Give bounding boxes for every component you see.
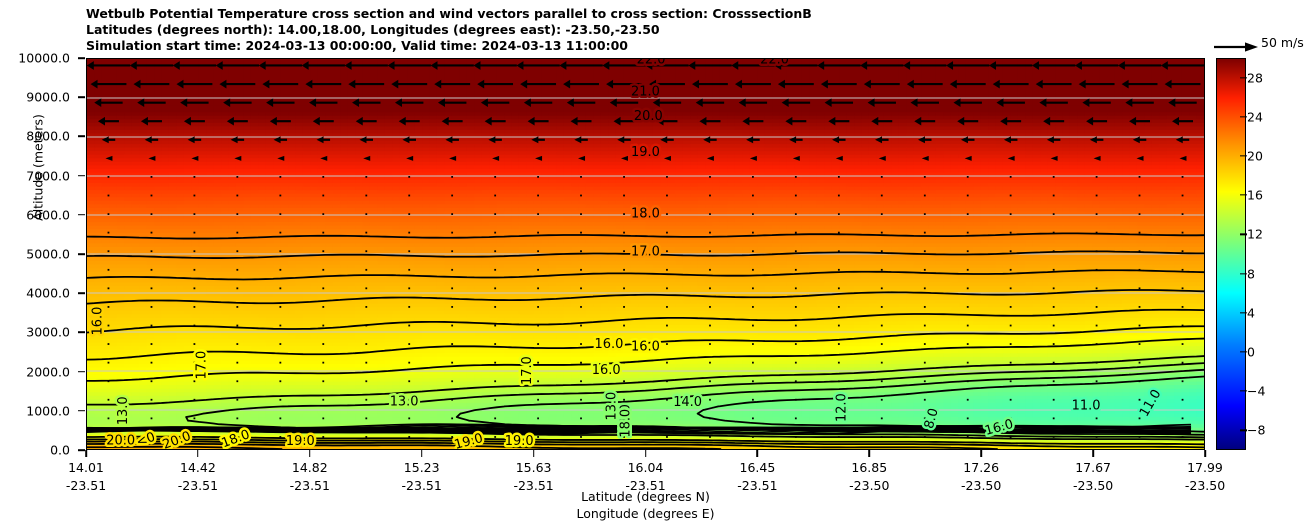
x-tick-label-latitude: 16.04 — [625, 459, 665, 477]
x-tick-label-latitude: 15.23 — [402, 459, 442, 477]
y-tick-label: 2000.0 — [26, 364, 70, 379]
colorbar-tick-label: −4 — [1247, 384, 1265, 399]
x-tick-mark — [309, 450, 311, 457]
contour-label: 12.0 — [834, 393, 849, 422]
x-axis-label-longitude: Longitude (degrees E) — [86, 506, 1205, 521]
colorbar: 2824201612840−4−8 — [1216, 58, 1246, 450]
colorbar-tick-label: 8 — [1247, 266, 1255, 281]
colorbar-tick-label: −8 — [1247, 423, 1265, 438]
contour-label: 18.0 — [618, 409, 633, 438]
right-arrow-icon — [1214, 42, 1258, 52]
colorbar-tick-label: 4 — [1247, 305, 1255, 320]
contour-label: 13.0 — [604, 392, 619, 421]
y-tick-mark — [78, 57, 85, 59]
colorbar-tick-label: 20 — [1247, 149, 1263, 164]
x-tick-label-latitude: 17.99 — [1185, 459, 1225, 477]
x-tick-mark — [421, 450, 423, 457]
chart-title: Wetbulb Potential Temperature cross sect… — [86, 6, 1186, 54]
x-tick-mark — [757, 450, 759, 457]
y-tick-mark — [78, 371, 85, 373]
contour-label: 17.0 — [195, 351, 210, 380]
colorbar-tick-mark — [1240, 234, 1247, 235]
contour-label: 16.0 — [595, 337, 624, 352]
x-tick-mark — [1204, 450, 1206, 457]
contour-label: 19.0 — [505, 434, 534, 449]
colorbar-tick-mark — [1240, 430, 1247, 431]
colorbar-tick-mark — [1240, 77, 1247, 78]
colorbar-tick-label: 16 — [1247, 188, 1263, 203]
wind-key-label: 50 m/s — [1261, 35, 1304, 50]
x-tick-label-latitude: 14.42 — [178, 459, 218, 477]
colorbar-tick-mark — [1240, 116, 1247, 117]
x-tick-label-latitude: 17.26 — [961, 459, 1001, 477]
plot-canvas: 22.022.022.022.021.021.020.020.019.019.0… — [87, 59, 1204, 449]
colorbar-tick-label: 28 — [1247, 70, 1263, 85]
contour-label: 20.0 — [106, 434, 135, 449]
contour-label: 13.0 — [390, 395, 419, 410]
contour-label: 14.0 — [673, 395, 702, 410]
contour-label: 16.0 — [631, 339, 660, 354]
colorbar-tick-mark — [1240, 195, 1247, 196]
x-tick-mark — [1092, 450, 1094, 457]
y-tick-label: 0.0 — [50, 443, 70, 458]
colorbar-tick-mark — [1240, 155, 1247, 156]
y-tick-mark — [78, 410, 85, 412]
contour-label: 16.0 — [592, 363, 621, 378]
y-tick-label: 1000.0 — [26, 403, 70, 418]
colorbar-tick-mark — [1240, 312, 1247, 313]
y-axis-label: Altitude (meters) — [31, 38, 46, 298]
y-tick-mark — [78, 253, 85, 255]
x-tick-label-latitude: 16.45 — [737, 459, 777, 477]
contour-label: 19.0 — [286, 434, 315, 449]
contour-label: 17.0 — [631, 245, 660, 260]
y-tick-mark — [78, 175, 85, 177]
y-tick-mark — [78, 292, 85, 294]
y-tick-mark — [78, 449, 85, 451]
title-line-1: Wetbulb Potential Temperature cross sect… — [86, 6, 1186, 22]
contour-label: 22.0 — [637, 59, 666, 67]
contour-label: 21.0 — [631, 85, 660, 100]
contour-label: 16.0 — [91, 307, 106, 336]
cross-section-plot: 22.022.022.022.021.021.020.020.019.019.0… — [86, 58, 1205, 450]
x-tick-mark — [85, 450, 87, 457]
x-tick-mark — [869, 450, 871, 457]
x-tick-mark — [197, 450, 199, 457]
x-tick-label-latitude: 14.82 — [290, 459, 330, 477]
title-line-2: Latitudes (degrees north): 14.00,18.00, … — [86, 22, 1186, 38]
colorbar-tick-label: 24 — [1247, 109, 1263, 124]
contour-label: 17.0 — [520, 356, 535, 385]
y-tick-mark — [78, 214, 85, 216]
x-tick-label-latitude: 16.85 — [849, 459, 889, 477]
contour-label: 19.0 — [631, 145, 660, 160]
y-tick-mark — [78, 96, 85, 98]
contour-label: 18.0 — [631, 207, 660, 222]
x-tick-mark — [533, 450, 535, 457]
x-tick-label-latitude: 14.01 — [66, 459, 106, 477]
x-axis-label-latitude: Latitude (degrees N) — [86, 489, 1205, 504]
wind-vector-key: 50 m/s — [1214, 33, 1311, 55]
x-tick-mark — [980, 450, 982, 457]
x-tick-mark — [645, 450, 647, 457]
y-tick-mark — [78, 332, 85, 334]
y-tick-label: 3000.0 — [26, 325, 70, 340]
contour-label: 22.0 — [760, 59, 789, 67]
title-line-3: Simulation start time: 2024-03-13 00:00:… — [86, 38, 1186, 54]
x-tick-label-latitude: 17.67 — [1073, 459, 1113, 477]
contour-label: 20.0 — [634, 109, 663, 124]
colorbar-tick-mark — [1240, 391, 1247, 392]
x-tick-label-latitude: 15.63 — [513, 459, 553, 477]
colorbar-tick-label: 0 — [1247, 345, 1255, 360]
y-tick-mark — [78, 136, 85, 138]
colorbar-tick-mark — [1240, 351, 1247, 352]
contour-label: 11.0 — [1072, 399, 1101, 414]
colorbar-tick-mark — [1240, 273, 1247, 274]
contour-label: 13.0 — [116, 396, 131, 425]
colorbar-tick-label: 12 — [1247, 227, 1263, 242]
